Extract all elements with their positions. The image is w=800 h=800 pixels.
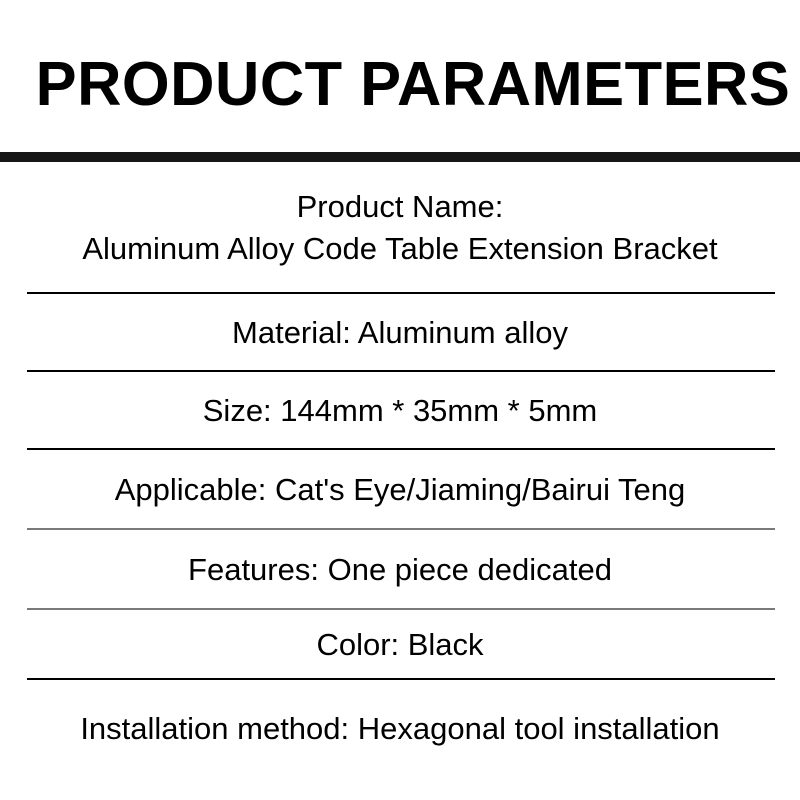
spec-text-product-name: Product Name: Aluminum Alloy Code Table … xyxy=(20,186,780,270)
spec-text-installation-method: Installation method: Hexagonal tool inst… xyxy=(20,708,780,750)
spec-text-applicable: Applicable: Cat's Eye/Jiaming/Bairui Ten… xyxy=(20,469,780,511)
spec-text-features: Features: One piece dedicated xyxy=(20,549,780,591)
spec-row-features: Features: One piece dedicated xyxy=(0,530,800,610)
spec-row-size: Size: 144mm * 35mm * 5mm xyxy=(0,372,800,450)
spec-row-product-name: Product Name: Aluminum Alloy Code Table … xyxy=(0,162,800,294)
spec-text-size: Size: 144mm * 35mm * 5mm xyxy=(20,390,780,432)
spec-row-installation-method: Installation method: Hexagonal tool inst… xyxy=(0,680,800,800)
spec-text-color: Color: Black xyxy=(20,624,780,666)
page-title: PRODUCT PARAMETERS xyxy=(36,53,765,117)
header: PRODUCT PARAMETERS xyxy=(0,0,800,152)
spec-row-applicable: Applicable: Cat's Eye/Jiaming/Bairui Ten… xyxy=(0,450,800,530)
product-parameters-sheet: PRODUCT PARAMETERS Product Name: Aluminu… xyxy=(0,0,800,800)
header-divider xyxy=(0,152,800,162)
spec-text-material: Material: Aluminum alloy xyxy=(20,312,780,354)
spec-table: Product Name: Aluminum Alloy Code Table … xyxy=(0,162,800,800)
spec-row-color: Color: Black xyxy=(0,610,800,680)
spec-row-material: Material: Aluminum alloy xyxy=(0,294,800,372)
